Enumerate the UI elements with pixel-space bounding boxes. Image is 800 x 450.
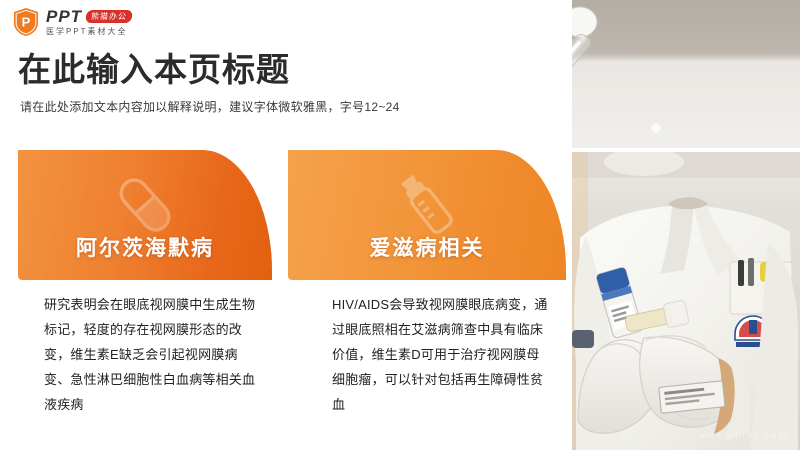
doctor-with-vial-photo: www.pptbz.com <box>572 152 800 450</box>
page-subtitle: 请在此处添加文本内容加以解释说明，建议字体微软雅黑，字号12~24 <box>20 98 400 115</box>
logo-primary-row: PPT 熊猫办公 <box>46 8 132 25</box>
logo-badge: 熊猫办公 <box>85 10 133 23</box>
logo-text-block: PPT 熊猫办公 医学PPT素材大全 <box>46 7 132 37</box>
topic-card-aids[interactable]: 爱滋病相关 <box>288 150 566 280</box>
watermark-text: www.pptbz.com <box>698 430 788 440</box>
topic-body-alzheimers: 研究表明会在眼底视网膜中生成生物标记，轻度的存在视网膜形态的改变，维生素E缺乏会… <box>44 292 256 417</box>
topic-body-aids: HIV/AIDS会导致视网膜眼底病变，通过眼底照相在艾滋病筛查中具有临床价值，维… <box>332 292 550 417</box>
topic-card-alzheimers[interactable]: 阿尔茨海默病 <box>18 150 272 280</box>
logo-tagline: 医学PPT素材大全 <box>46 26 132 37</box>
topic-card-label: 阿尔茨海默病 <box>18 232 272 262</box>
brand-logo[interactable]: P PPT 熊猫办公 医学PPT素材大全 <box>12 5 132 39</box>
page-title: 在此输入本页标题 <box>18 50 290 90</box>
shield-icon: P <box>12 7 40 37</box>
svg-text:P: P <box>22 15 31 30</box>
topic-card-label: 爱滋病相关 <box>288 232 566 262</box>
slide-canvas: P PPT 熊猫办公 医学PPT素材大全 在此输入本页标题 请在此处添加文本内容… <box>0 0 800 450</box>
glass-pipette-dropper-photo <box>572 0 800 148</box>
logo-brand-text: PPT <box>46 8 82 25</box>
